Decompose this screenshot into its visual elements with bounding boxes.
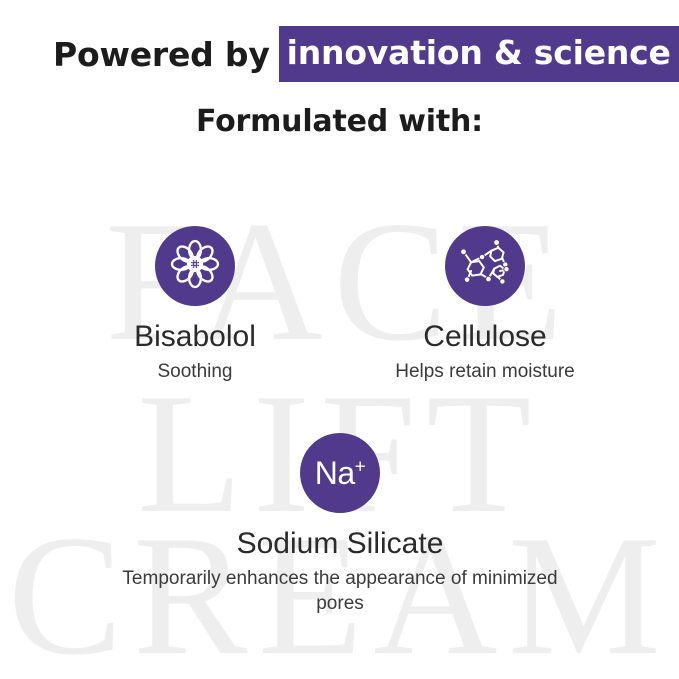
headline: Powered by innovation & science [0, 27, 679, 81]
ingredient-icon-badge: Na+ [300, 433, 380, 513]
sodium-ion-icon: Na+ [315, 457, 366, 489]
ingredient-name: Sodium Silicate [110, 527, 570, 562]
infographic-canvas: FACE LIFT CREAM Powered by innovation & … [0, 0, 679, 679]
ingredient-icon-badge [155, 226, 235, 306]
ingredient-cellulose: Cellulose Helps retain moisture [365, 226, 605, 384]
ingredient-bisabolol: Bisabolol Soothing [75, 226, 315, 384]
page-subtitle: Formulated with: [0, 104, 679, 139]
ingredient-sodium-silicate: Na+ Sodium Silicate Temporarily enhances… [110, 433, 570, 616]
ingredient-name: Bisabolol [75, 320, 315, 355]
ingredient-name: Cellulose [365, 320, 605, 355]
headline-highlight-text: innovation & science [279, 26, 679, 82]
sodium-ion-charge: + [355, 456, 366, 477]
sodium-ion-label: Na [315, 455, 355, 491]
ingredient-icon-badge [445, 226, 525, 306]
headline-plain-text: Powered by [53, 38, 270, 71]
ingredient-description: Temporarily enhances the appearance of m… [110, 566, 570, 616]
flower-icon [167, 236, 223, 296]
molecule-icon [456, 235, 514, 297]
ingredient-description: Soothing [75, 359, 315, 384]
ingredient-description: Helps retain moisture [365, 359, 605, 384]
